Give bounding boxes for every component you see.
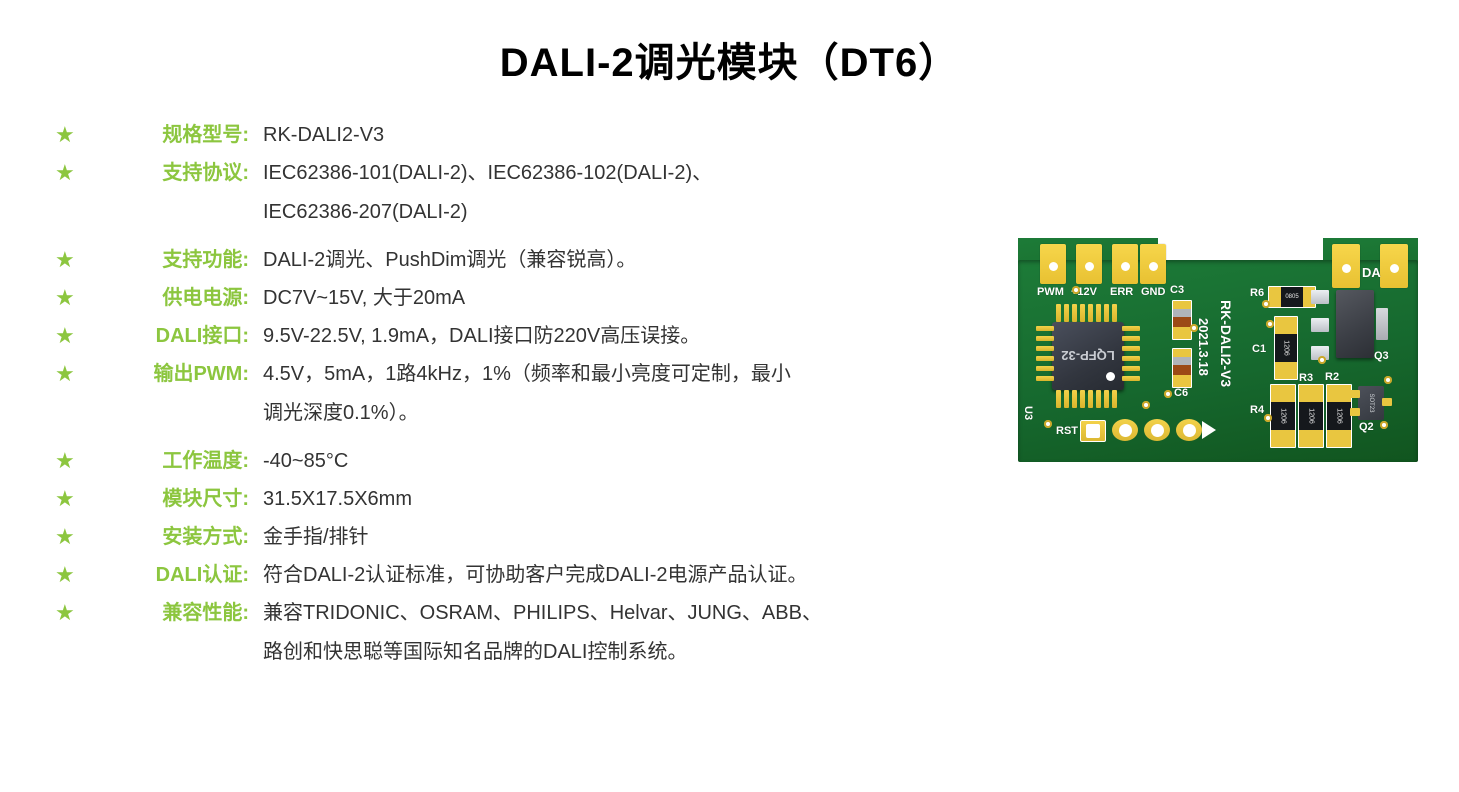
star-icon: ★ — [55, 283, 89, 313]
ic-leg-left — [1036, 326, 1054, 331]
spec-row: ★输出PWM:4.5V，5mA，1路4kHz，1%（频率和最小亮度可定制，最小调… — [55, 359, 975, 428]
star-icon: ★ — [55, 522, 89, 552]
via-r4 — [1264, 414, 1272, 422]
silk-label-r3: R3 — [1299, 372, 1313, 384]
ic-leg-left — [1036, 376, 1054, 381]
spec-label: 规格型号: — [89, 120, 249, 150]
spec-value: IEC62386-101(DALI-2)、IEC62386-102(DALI-2… — [249, 158, 975, 227]
spec-value-line: 4.5V，5mA，1路4kHz，1%（频率和最小亮度可定制，最小 — [263, 359, 975, 389]
ic-leg-bottom — [1088, 390, 1093, 408]
pad-err — [1112, 244, 1138, 284]
silk-label-c6: C6 — [1174, 387, 1188, 399]
ic-leg-top — [1064, 304, 1069, 322]
star-icon: ★ — [55, 359, 89, 389]
spec-value-line: 9.5V-22.5V, 1.9mA，DALI接口防220V高压误接。 — [263, 321, 975, 351]
star-icon: ★ — [55, 560, 89, 590]
silk-label-err: ERR — [1110, 286, 1133, 298]
silk-label-c3: C3 — [1170, 284, 1184, 296]
component-c3 — [1172, 300, 1192, 340]
via-connector — [1318, 356, 1326, 364]
spec-value-line: 调光深度0.1%）。 — [263, 398, 975, 428]
ic-leg-top — [1088, 304, 1093, 322]
ic-leg-right — [1122, 366, 1140, 371]
spec-value: RK-DALI2-V3 — [249, 120, 975, 150]
spec-value: 4.5V，5mA，1路4kHz，1%（频率和最小亮度可定制，最小调光深度0.1%… — [249, 359, 975, 428]
spec-label: DALI认证: — [89, 560, 249, 590]
ic-leg-bottom — [1072, 390, 1077, 408]
q3-lead — [1376, 308, 1388, 341]
star-icon: ★ — [55, 245, 89, 275]
spec-row: ★DALI接口:9.5V-22.5V, 1.9mA，DALI接口防220V高压误… — [55, 321, 975, 351]
silk-label-gnd: GND — [1141, 286, 1165, 298]
spec-row: ★安装方式:金手指/排针 — [55, 522, 975, 552]
silk-date-code: 2021.3.18 — [1196, 318, 1211, 376]
specification-list: ★规格型号:RK-DALI2-V3★支持协议:IEC62386-101(DALI… — [55, 120, 975, 685]
spec-value-line: 路创和快思聪等国际知名品牌的DALI控制系统。 — [263, 637, 975, 667]
component-q2: SOT23 — [1358, 386, 1384, 420]
spec-value: 31.5X17.5X6mm — [249, 484, 975, 514]
spec-label: 支持协议: — [89, 158, 249, 188]
smd-code-r3: 1206 — [1308, 404, 1315, 428]
via-q2-a — [1384, 376, 1392, 384]
spec-sheet-page: DALI-2调光模块（DT6） ★规格型号:RK-DALI2-V3★支持协议:I… — [0, 0, 1459, 792]
component-r3: 1206 — [1298, 384, 1324, 448]
pad-12v — [1076, 244, 1102, 284]
component-c1: 1206 — [1274, 316, 1298, 380]
page-title: DALI-2调光模块（DT6） — [0, 30, 1459, 88]
spec-value: DALI-2调光、PushDim调光（兼容锐高）。 — [249, 245, 975, 275]
q2-pin — [1350, 408, 1360, 416]
spec-value-line: -40~85°C — [263, 446, 975, 476]
via-top-mid — [1072, 286, 1080, 294]
spec-value: 9.5V-22.5V, 1.9mA，DALI接口防220V高压误接。 — [249, 321, 975, 351]
ic-lqfp32: LQFP-32 — [1052, 322, 1124, 390]
via-u3 — [1044, 420, 1052, 428]
component-c6 — [1172, 348, 1192, 388]
spec-value-line: IEC62386-207(DALI-2) — [263, 197, 975, 227]
polarity-marker-icon — [1202, 421, 1216, 439]
silk-label-q2: Q2 — [1359, 421, 1374, 433]
via-q2-b — [1380, 421, 1388, 429]
ic-leg-top — [1104, 304, 1109, 322]
ic-leg-bottom — [1064, 390, 1069, 408]
silk-label-pwm: PWM — [1037, 286, 1064, 298]
spec-label: 模块尺寸: — [89, 484, 249, 514]
spec-value-line: 兼容TRIDONIC、OSRAM、PHILIPS、Helvar、JUNG、ABB… — [263, 598, 975, 628]
ic-leg-top — [1056, 304, 1061, 322]
star-icon: ★ — [55, 484, 89, 514]
ic-leg-left — [1036, 346, 1054, 351]
star-icon: ★ — [55, 598, 89, 628]
connector-pin — [1311, 290, 1329, 304]
spec-label: 支持功能: — [89, 245, 249, 275]
spec-label: 供电电源: — [89, 283, 249, 313]
ic-leg-bottom — [1112, 390, 1117, 408]
connector-pin — [1311, 318, 1329, 332]
spec-value: -40~85°C — [249, 446, 975, 476]
ic-leg-right — [1122, 326, 1140, 331]
ic-leg-right — [1122, 336, 1140, 341]
ic-leg-right — [1122, 356, 1140, 361]
via-c6 — [1164, 390, 1172, 398]
spec-value: 金手指/排针 — [249, 522, 975, 552]
spec-row: ★兼容性能:兼容TRIDONIC、OSRAM、PHILIPS、Helvar、JU… — [55, 598, 975, 667]
component-r4: 1206 — [1270, 384, 1296, 448]
silk-label-c1: C1 — [1252, 343, 1266, 355]
spec-row: ★支持功能:DALI-2调光、PushDim调光（兼容锐高）。 — [55, 245, 975, 275]
test-pad — [1176, 419, 1202, 441]
smd-code-r2: 1206 — [1336, 404, 1343, 428]
ic-leg-top — [1072, 304, 1077, 322]
silk-part-number: RK-DALI2-V3 — [1218, 300, 1234, 387]
pad-da-2 — [1380, 244, 1408, 288]
spec-value-line: 符合DALI-2认证标准，可协助客户完成DALI-2电源产品认证。 — [263, 560, 975, 590]
silk-label-rst: RST — [1056, 425, 1078, 437]
spec-label: 输出PWM: — [89, 359, 249, 389]
spec-row: ★规格型号:RK-DALI2-V3 — [55, 120, 975, 150]
star-icon: ★ — [55, 446, 89, 476]
via-ic-corner — [1142, 401, 1150, 409]
star-icon: ★ — [55, 120, 89, 150]
ic-leg-bottom — [1056, 390, 1061, 408]
spec-label: 安装方式: — [89, 522, 249, 552]
silk-label-q3: Q3 — [1374, 350, 1389, 362]
smd-code-r4: 1206 — [1280, 404, 1287, 428]
spec-value-line: IEC62386-101(DALI-2)、IEC62386-102(DALI-2… — [263, 158, 975, 188]
spec-value-line: DC7V~15V, 大于20mA — [263, 283, 975, 313]
ic-leg-left — [1036, 336, 1054, 341]
ic-leg-bottom — [1104, 390, 1109, 408]
component-r2: 1206 — [1326, 384, 1352, 448]
spec-row: ★供电电源:DC7V~15V, 大于20mA — [55, 283, 975, 313]
spec-row: ★模块尺寸:31.5X17.5X6mm — [55, 484, 975, 514]
spec-row: ★DALI认证:符合DALI-2认证标准，可协助客户完成DALI-2电源产品认证… — [55, 560, 975, 590]
ic-leg-top — [1080, 304, 1085, 322]
ic-leg-bottom — [1080, 390, 1085, 408]
pad-da-1 — [1332, 244, 1360, 288]
smd-code-q2: SOT23 — [1368, 390, 1374, 416]
ic-leg-right — [1122, 376, 1140, 381]
spec-label: DALI接口: — [89, 321, 249, 351]
q2-pin — [1350, 390, 1360, 398]
pad-pwm — [1040, 244, 1066, 284]
spec-value-line: DALI-2调光、PushDim调光（兼容锐高）。 — [263, 245, 975, 275]
smd-code-r6: 0805 — [1269, 294, 1315, 300]
component-q3 — [1336, 290, 1374, 358]
spec-row: ★支持协议:IEC62386-101(DALI-2)、IEC62386-102(… — [55, 158, 975, 227]
pad-gnd — [1140, 244, 1166, 284]
component-r6: 0805 — [1268, 286, 1316, 308]
pcb-board: PWM +12V ERR GND DA LQFP-32 — [1018, 238, 1418, 462]
q2-pin — [1382, 398, 1392, 406]
silk-label-r4: R4 — [1250, 404, 1264, 416]
ic-leg-right — [1122, 346, 1140, 351]
ic-leg-top — [1112, 304, 1117, 322]
spec-label: 兼容性能: — [89, 598, 249, 628]
test-pad — [1144, 419, 1170, 441]
smd-code-c1: 1206 — [1283, 337, 1290, 359]
silk-label-r6: R6 — [1250, 287, 1264, 299]
pcb-product-image: PWM +12V ERR GND DA LQFP-32 — [1018, 238, 1418, 462]
silk-label-da: DA — [1362, 265, 1381, 280]
test-pad — [1112, 419, 1138, 441]
spec-value-line: RK-DALI2-V3 — [263, 120, 975, 150]
star-icon: ★ — [55, 158, 89, 188]
silk-label-r2: R2 — [1325, 371, 1339, 383]
silk-label-u3: U3 — [1022, 406, 1034, 420]
spec-row: ★工作温度:-40~85°C — [55, 446, 975, 476]
via-c1 — [1266, 320, 1274, 328]
spec-label: 工作温度: — [89, 446, 249, 476]
ic-leg-left — [1036, 366, 1054, 371]
ic-pin1-dot — [1106, 372, 1115, 381]
test-pad-rst — [1080, 420, 1106, 442]
spec-value: 兼容TRIDONIC、OSRAM、PHILIPS、Helvar、JUNG、ABB… — [249, 598, 975, 667]
ic-leg-left — [1036, 356, 1054, 361]
ic-leg-bottom — [1096, 390, 1101, 408]
via-r6 — [1262, 300, 1270, 308]
spec-value-line: 31.5X17.5X6mm — [263, 484, 975, 514]
spec-value: 符合DALI-2认证标准，可协助客户完成DALI-2电源产品认证。 — [249, 560, 975, 590]
spec-value: DC7V~15V, 大于20mA — [249, 283, 975, 313]
star-icon: ★ — [55, 321, 89, 351]
ic-leg-top — [1096, 304, 1101, 322]
spec-value-line: 金手指/排针 — [263, 522, 975, 552]
